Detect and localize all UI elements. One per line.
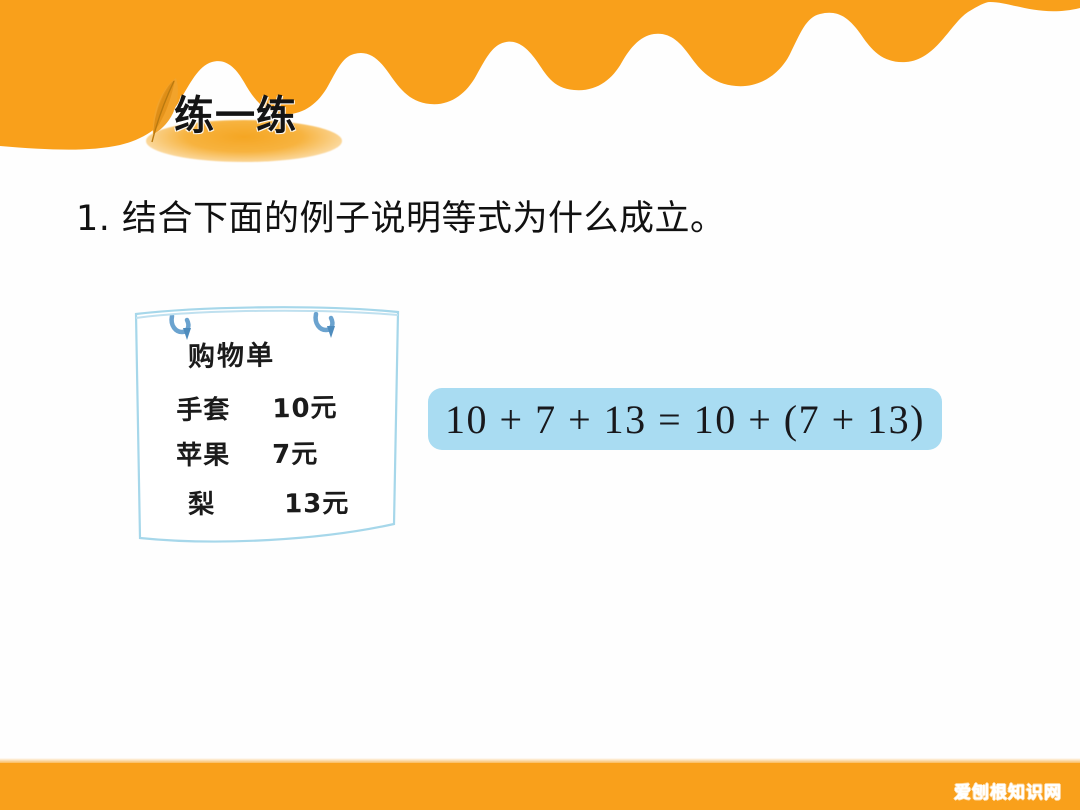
- bottom-bar: [0, 763, 1080, 810]
- equation-text: 10 + 7 + 13 = 10 + (7 + 13): [445, 396, 925, 443]
- note-item-price: 10元: [272, 387, 338, 425]
- note-item-price: 7元: [272, 434, 318, 471]
- note-item-name: 手套: [176, 389, 231, 427]
- section-title-badge: 练一练: [128, 74, 358, 166]
- question-text: 1. 结合下面的例子说明等式为什么成立。: [76, 190, 726, 241]
- note-item-price: 13元: [284, 483, 349, 520]
- note-item-name: 苹果: [176, 434, 230, 472]
- note-item-name: 梨: [188, 484, 215, 521]
- section-title-label: 练一练: [174, 92, 354, 140]
- equation-box: 10 + 7 + 13 = 10 + (7 + 13): [428, 388, 942, 450]
- note-content: 购物单 手套 10元 苹果 7元 梨 13元: [126, 302, 408, 550]
- slide-canvas: 练一练 1. 结合下面的例子说明等式为什么成立。 购物单 手套 10元 苹果 7…: [0, 0, 1080, 810]
- note-title: 购物单: [188, 333, 276, 374]
- shopping-list-note: 购物单 手套 10元 苹果 7元 梨 13元: [126, 302, 408, 550]
- watermark-label: 爱刨根知识网: [954, 778, 1062, 803]
